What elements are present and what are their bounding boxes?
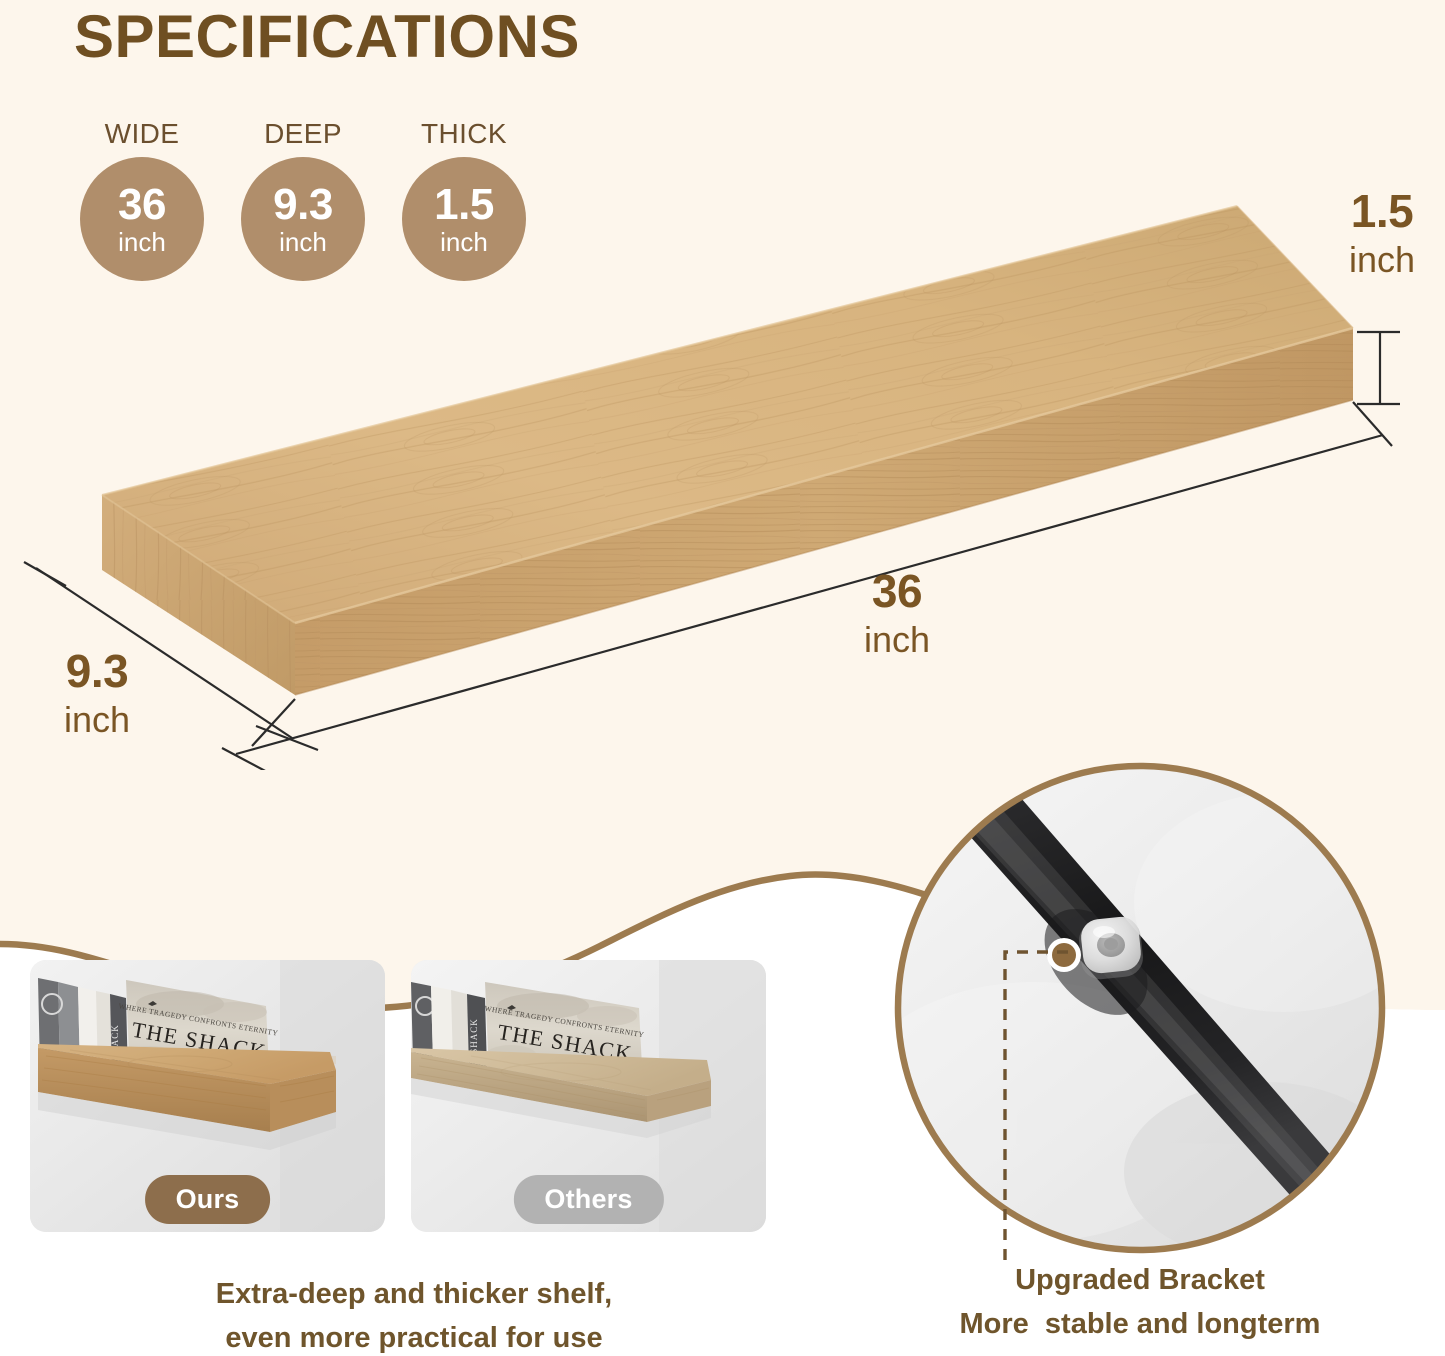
bracket-caption-line1: Upgraded Bracket	[905, 1258, 1375, 1302]
dimension-thickness-unit: inch	[1327, 242, 1437, 278]
bracket-detail-circle	[884, 752, 1396, 1264]
spec-circle-thick: 1.5 inch	[402, 157, 526, 281]
marker-dot	[1047, 938, 1081, 972]
spec-badge-deep: DEEP 9.3 inch	[239, 118, 367, 281]
comparison-caption-line2: even more practical for use	[94, 1316, 734, 1356]
comparison-photo-others[interactable]: SHACK WHERE TRAGEDY CONFRONTS ETERNITY T…	[411, 960, 766, 1232]
spec-caption-deep: DEEP	[264, 118, 342, 150]
dimension-width-unit: inch	[832, 622, 962, 658]
svg-text:SHACK: SHACK	[469, 1018, 479, 1054]
page-title: SPECIFICATIONS	[74, 2, 580, 71]
dimension-depth-unit: inch	[32, 702, 162, 738]
dimension-label-depth: 9.3 inch	[32, 648, 162, 738]
spec-badge-thick: THICK 1.5 inch	[400, 118, 528, 281]
bracket-caption: Upgraded Bracket More stable and longter…	[905, 1258, 1375, 1346]
comparison-photo-ours[interactable]: SHACK WHERE TRAGEDY CONFRONTS ETERNITY T…	[30, 960, 385, 1232]
spec-value-deep: 9.3	[273, 183, 333, 227]
spec-badge-group: WIDE 36 inch DEEP 9.3 inch THICK 1.5 inc…	[78, 118, 528, 281]
dimension-label-thickness: 1.5 inch	[1327, 188, 1437, 278]
screw-grommet	[1077, 915, 1145, 981]
comparison-caption-line1: Extra-deep and thicker shelf,	[94, 1272, 734, 1316]
spec-value-thick: 1.5	[434, 183, 494, 227]
spec-value-wide: 36	[118, 183, 166, 227]
spec-unit-wide: inch	[118, 229, 166, 255]
spec-circle-deep: 9.3 inch	[241, 157, 365, 281]
dimension-width-value: 36	[832, 568, 962, 614]
dimension-label-width: 36 inch	[832, 568, 962, 658]
pill-ours: Ours	[145, 1175, 271, 1224]
bracket-caption-line2: More stable and longterm	[905, 1302, 1375, 1346]
dimension-thickness-value: 1.5	[1327, 188, 1437, 234]
spec-unit-deep: inch	[279, 229, 327, 255]
dimension-depth-value: 9.3	[32, 648, 162, 694]
comparison-gallery: SHACK WHERE TRAGEDY CONFRONTS ETERNITY T…	[30, 960, 766, 1232]
pill-others: Others	[513, 1175, 663, 1224]
thickness-dimension-bracket	[1353, 332, 1400, 446]
specifications-page: SPECIFICATIONS WIDE 36 inch DEEP 9.3 inc…	[0, 0, 1445, 1356]
spec-caption-thick: THICK	[421, 118, 507, 150]
spec-circle-wide: 36 inch	[80, 157, 204, 281]
spec-badge-wide: WIDE 36 inch	[78, 118, 206, 281]
comparison-caption: Extra-deep and thicker shelf, even more …	[94, 1272, 734, 1356]
spec-caption-wide: WIDE	[105, 118, 180, 150]
spec-unit-thick: inch	[440, 229, 488, 255]
